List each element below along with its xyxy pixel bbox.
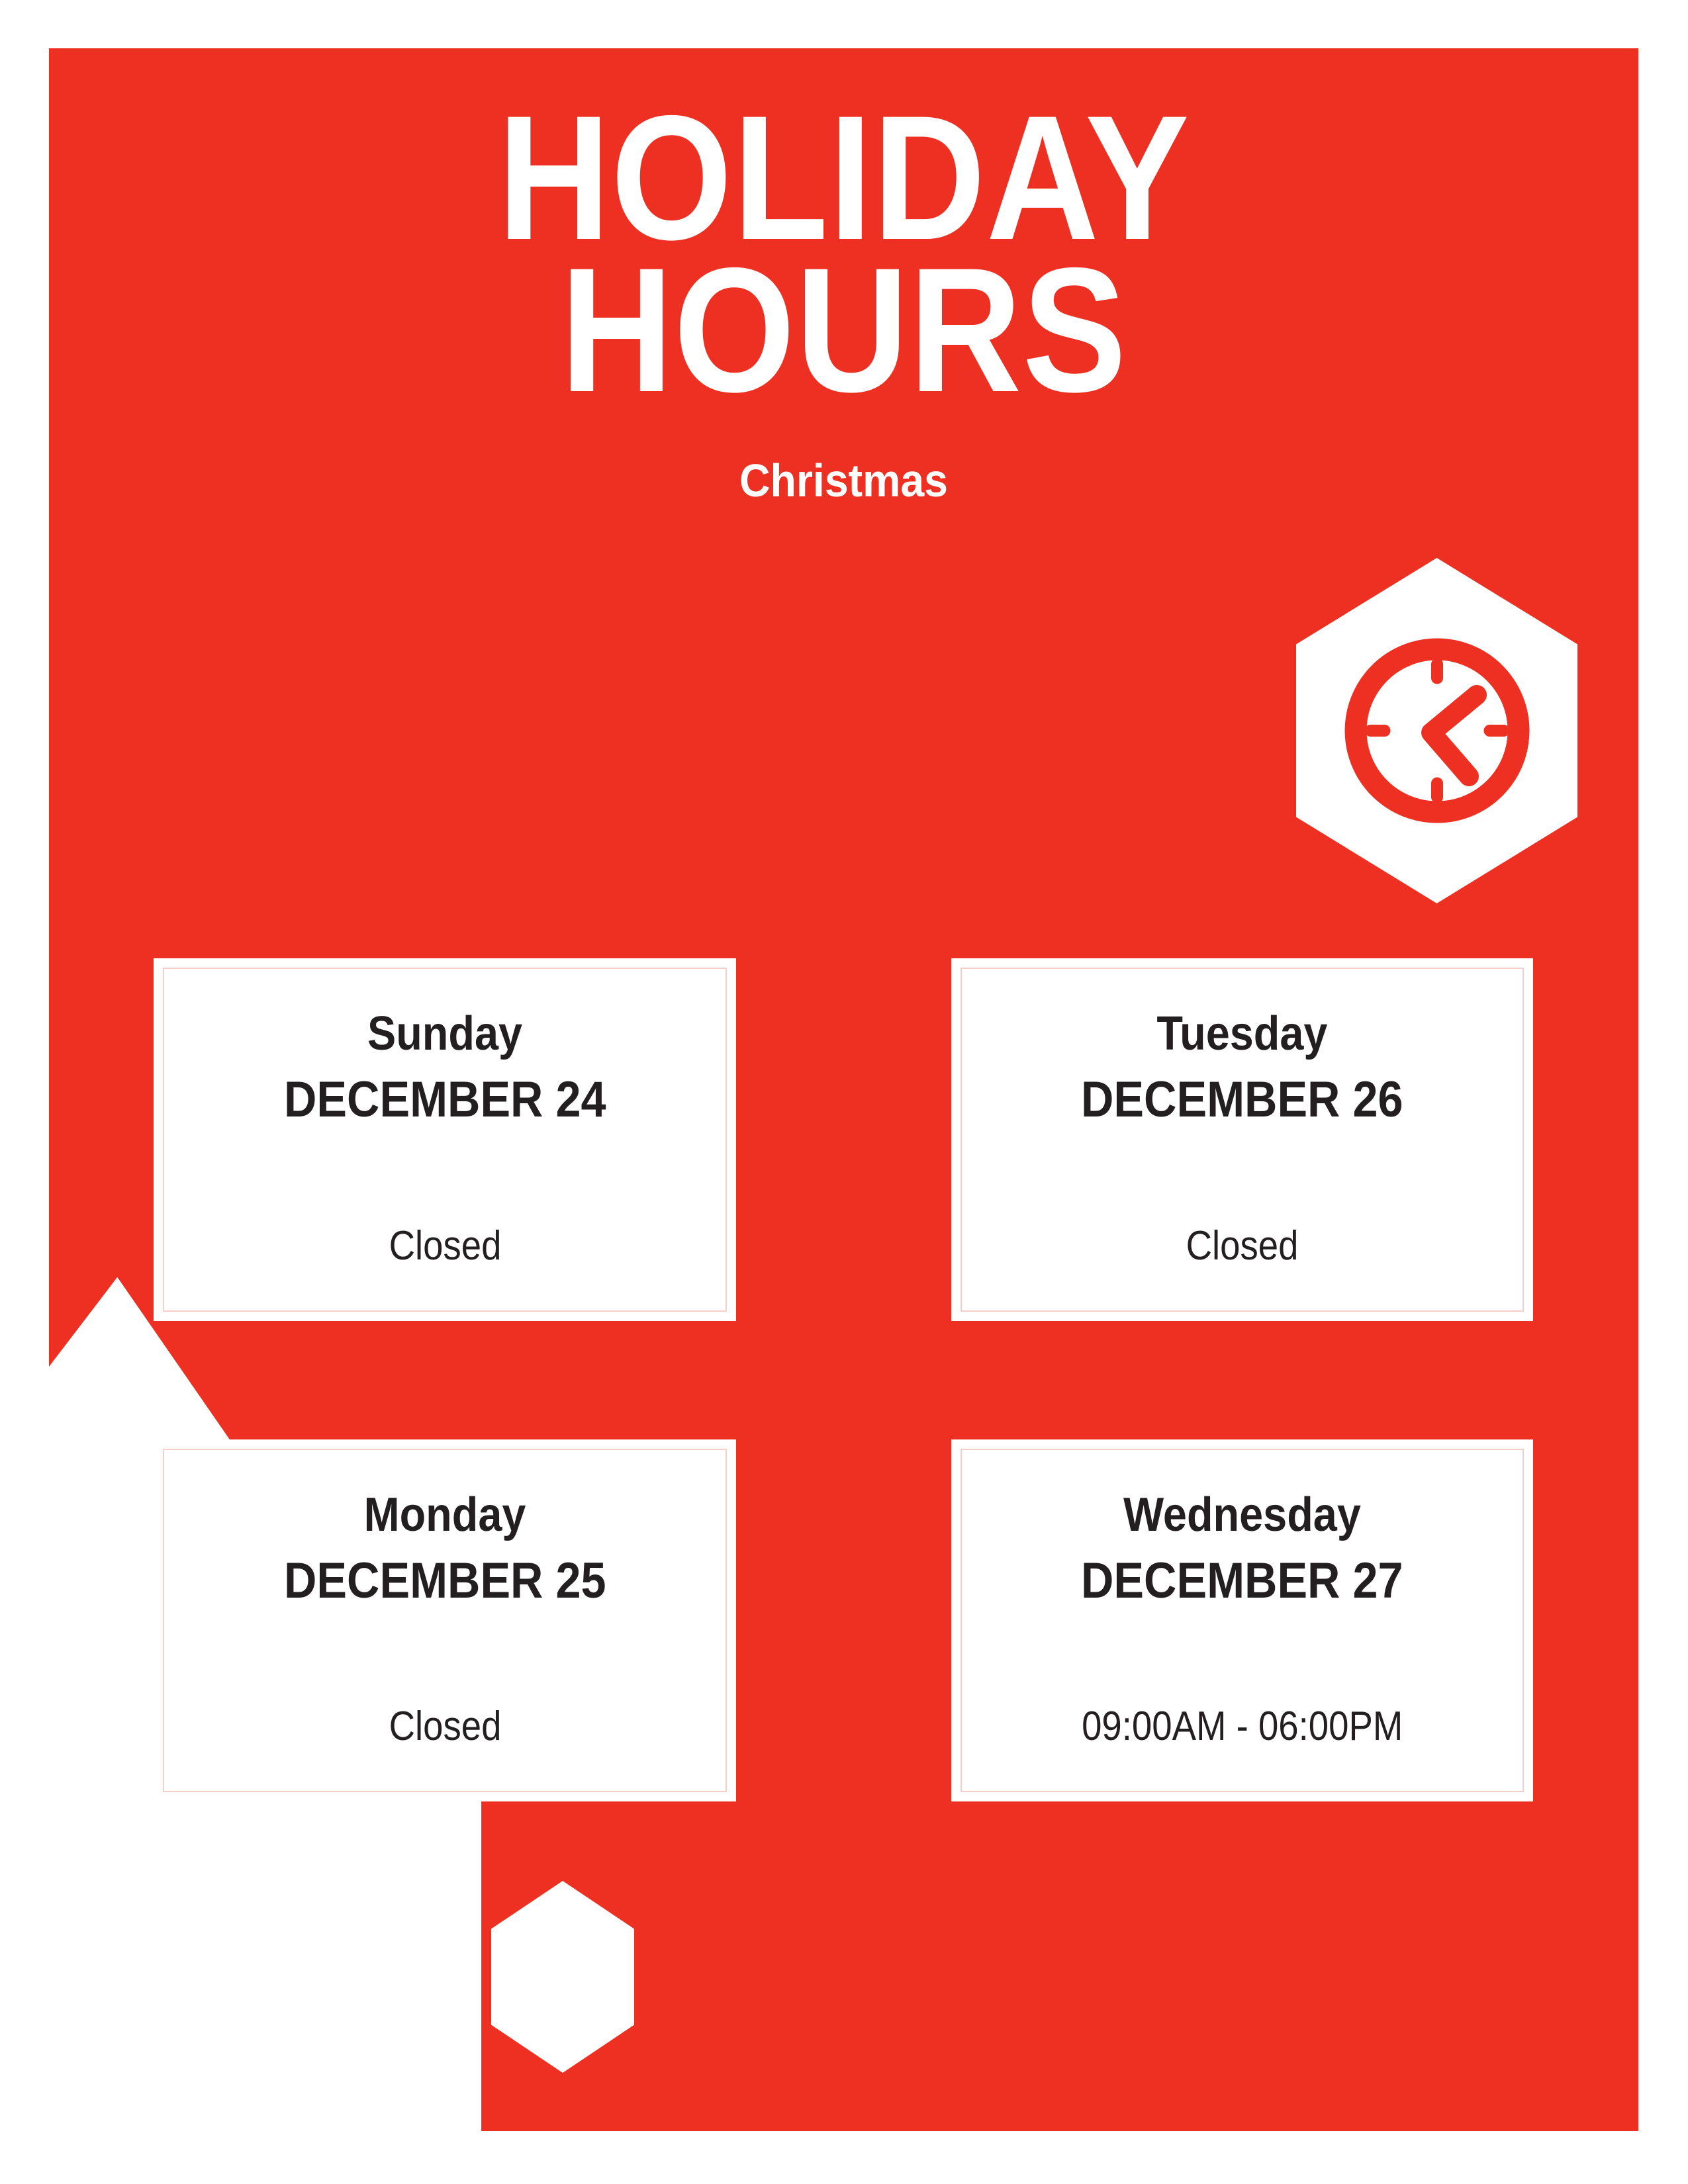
clock-icon	[1338, 631, 1536, 830]
card-hours-label: 09:00AM - 06:00PM	[1082, 1706, 1403, 1747]
holiday-hours-poster: HOLIDAY HOURS Christmas Sunday DECEMBER …	[0, 0, 1688, 2184]
schedule-card: Monday DECEMBER 25 Closed	[154, 1439, 736, 1801]
card-date-label: DECEMBER 25	[284, 1556, 606, 1606]
card-hours-label: Closed	[389, 1226, 501, 1267]
card-day-label: Tuesday	[1156, 1010, 1327, 1058]
card-hours-label: Closed	[389, 1706, 501, 1747]
schedule-card-grid: Sunday DECEMBER 24 Closed Tuesday DECEMB…	[154, 958, 1533, 1801]
clock-badge	[1296, 558, 1577, 903]
schedule-card: Tuesday DECEMBER 26 Closed	[951, 958, 1533, 1321]
card-day-label: Monday	[364, 1491, 526, 1539]
hexagon-decoration-large-icon	[0, 1835, 436, 2184]
card-day-label: Wednesday	[1123, 1491, 1361, 1539]
card-date-label: DECEMBER 26	[1081, 1075, 1403, 1125]
card-date-label: DECEMBER 24	[284, 1075, 606, 1125]
card-day-label: Sunday	[367, 1010, 522, 1058]
schedule-card: Wednesday DECEMBER 27 09:00AM - 06:00PM	[951, 1439, 1533, 1801]
card-date-label: DECEMBER 27	[1081, 1556, 1403, 1606]
card-hours-label: Closed	[1186, 1226, 1299, 1267]
schedule-card: Sunday DECEMBER 24 Closed	[154, 958, 736, 1321]
